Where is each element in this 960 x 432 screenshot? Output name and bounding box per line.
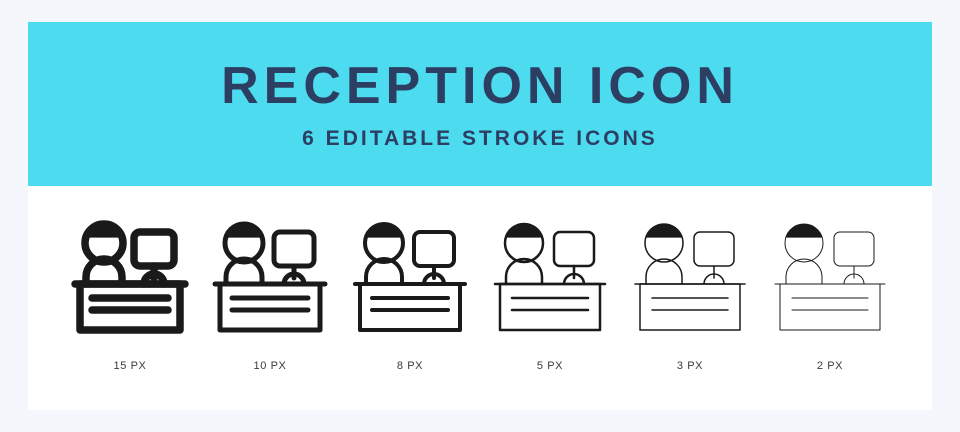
title-banner: RECEPTION ICON 6 EDITABLE STROKE ICONS: [28, 22, 932, 186]
icon-label: 2 PX: [817, 360, 843, 372]
icon-cell-5[interactable]: 2 PX: [762, 186, 898, 372]
icon-strip: 15 PX 1: [28, 186, 932, 410]
page-subtitle: 6 EDITABLE STROKE ICONS: [302, 128, 658, 149]
icon-cell-1[interactable]: 10 PX: [202, 186, 338, 372]
icon-cell-4[interactable]: 3 PX: [622, 186, 758, 372]
icon-cell-0[interactable]: 15 PX: [62, 186, 198, 372]
content-card: RECEPTION ICON 6 EDITABLE STROKE ICONS: [28, 22, 932, 410]
reception-desk-icon: [490, 204, 610, 354]
reception-desk-icon: [770, 204, 890, 354]
reception-desk-icon: [70, 204, 190, 354]
icon-label: 8 PX: [397, 360, 423, 372]
icon-label: 15 PX: [114, 360, 147, 372]
icon-cell-2[interactable]: 8 PX: [342, 186, 478, 372]
reception-desk-icon: [350, 204, 470, 354]
poster-page: RECEPTION ICON 6 EDITABLE STROKE ICONS: [0, 0, 960, 432]
icon-cell-3[interactable]: 5 PX: [482, 186, 618, 372]
icon-label: 10 PX: [254, 360, 287, 372]
icon-label: 3 PX: [677, 360, 703, 372]
page-title: RECEPTION ICON: [221, 60, 739, 112]
reception-desk-icon: [210, 204, 330, 354]
reception-desk-icon: [630, 204, 750, 354]
icon-label: 5 PX: [537, 360, 563, 372]
